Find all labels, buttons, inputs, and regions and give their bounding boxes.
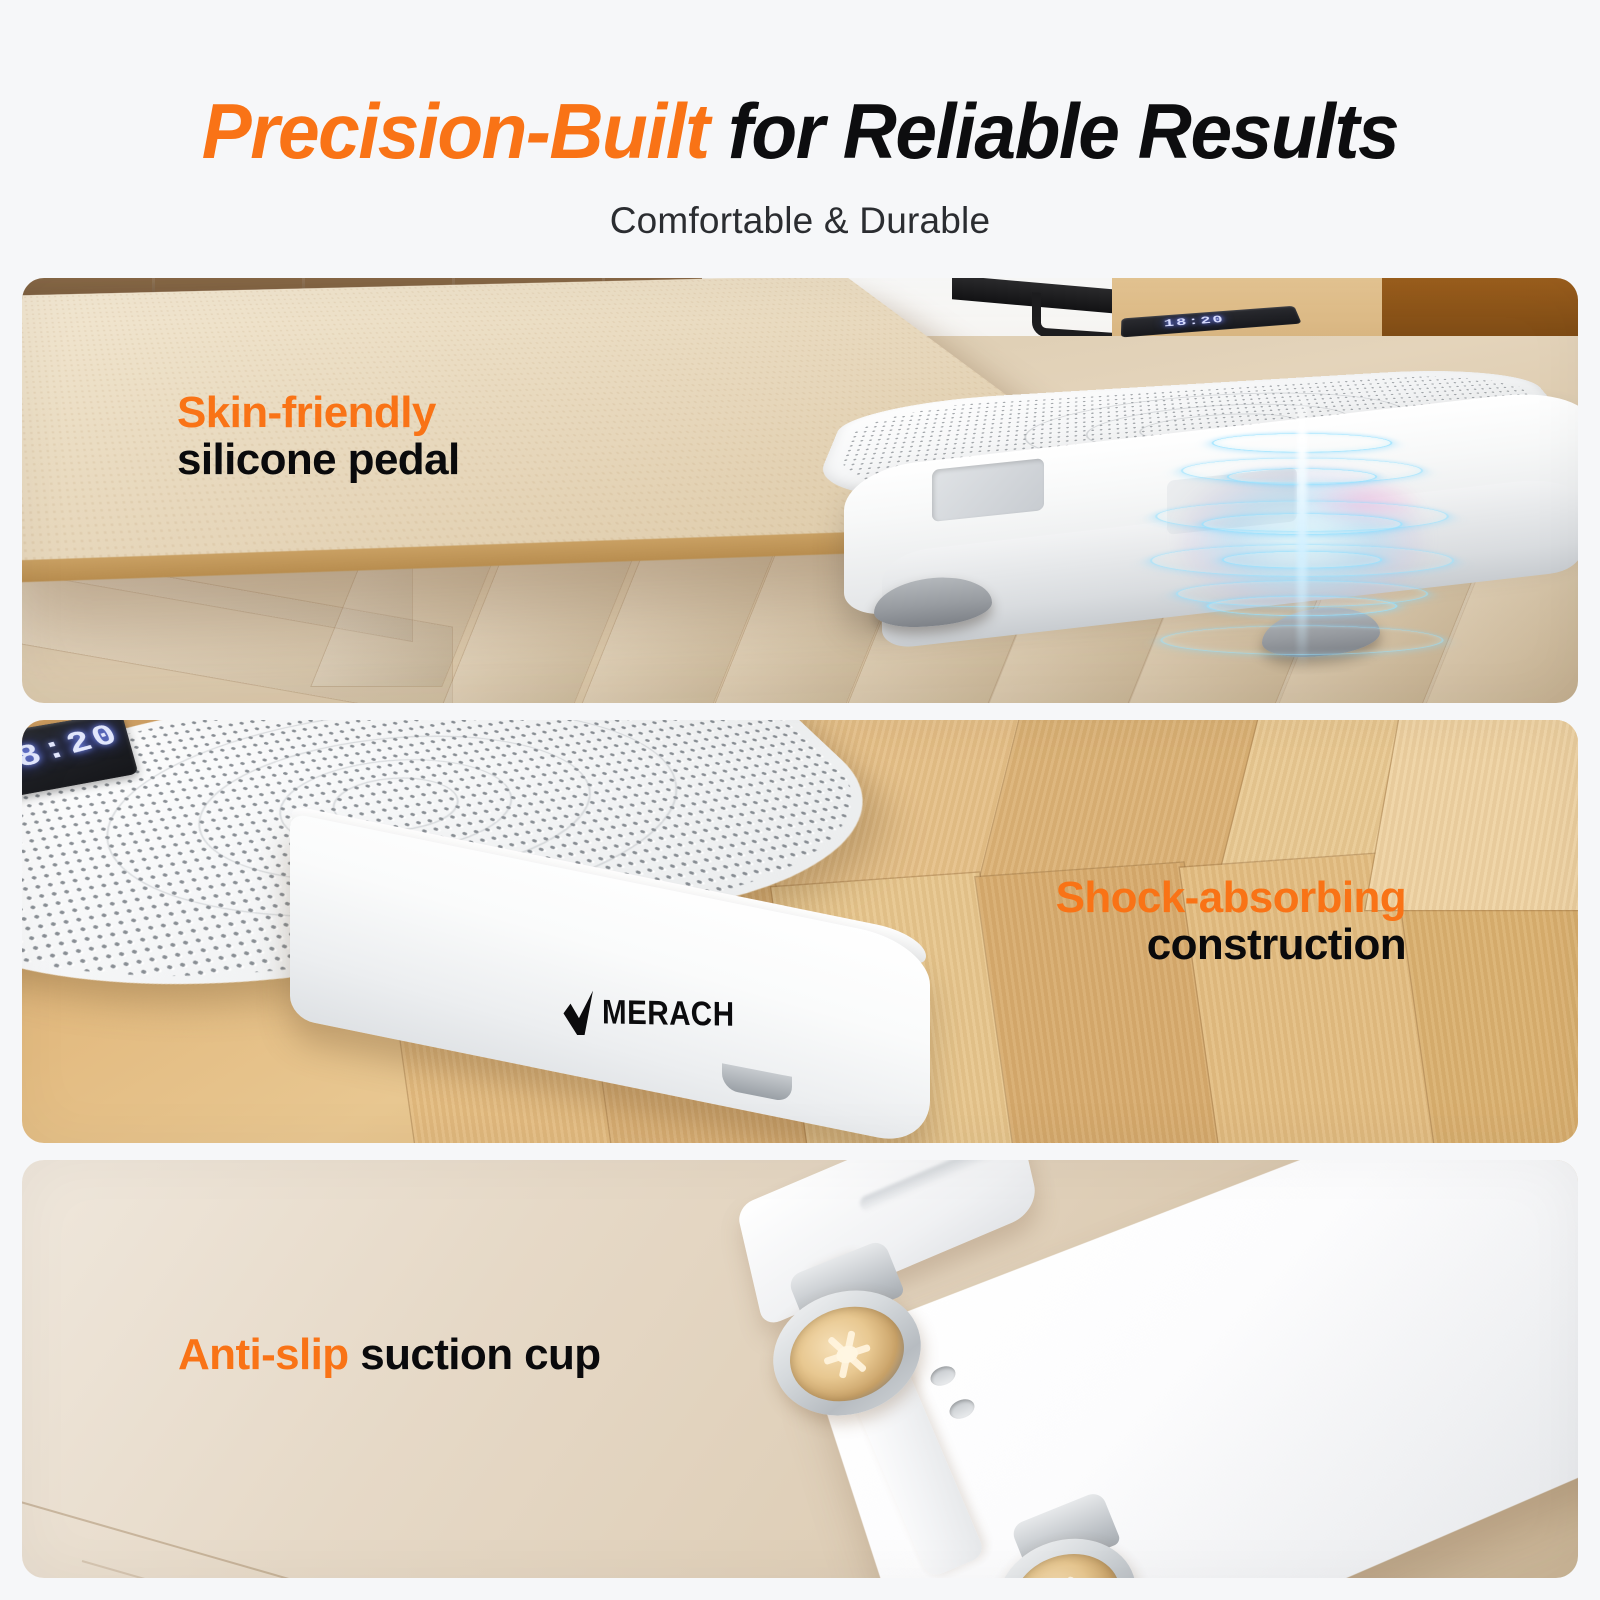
scene-skin-friendly-pedal: 18:20 — [22, 278, 1578, 703]
page-subtitle: Comfortable & Durable — [0, 200, 1600, 242]
suction-cup-foot — [996, 1506, 1123, 1578]
merach-check-icon — [559, 990, 600, 1035]
page-title: Precision-Built for Reliable Results — [32, 92, 1568, 170]
caption-anti-slip: Anti-slip suction cup — [178, 1332, 601, 1379]
headline-rest: for Reliable Results — [709, 87, 1399, 175]
caption-accent-text: Skin-friendly — [177, 390, 460, 437]
caption-rest-text: suction cup — [349, 1330, 601, 1379]
feature-panel-list: 18:20 — [22, 278, 1578, 1595]
lcd-digits: 18:20 — [22, 720, 127, 784]
lcd-display: 18:20 — [1121, 306, 1302, 338]
headline-accent: Precision-Built — [202, 87, 709, 175]
lcd-digits: 18:20 — [1163, 314, 1226, 330]
caption-skin-friendly: Skin-friendly silicone pedal — [177, 390, 460, 483]
feature-panel-anti-slip[interactable]: Anti-slip suction cup — [22, 1160, 1578, 1578]
vibration-plate-underside — [662, 1160, 1578, 1578]
caption-accent-text: Shock-absorbing — [1056, 875, 1406, 922]
caption-rest-text: construction — [1056, 922, 1406, 969]
caption-shock-absorbing: Shock-absorbing construction — [1056, 875, 1406, 968]
merach-wordmark: MERACH — [598, 994, 737, 1035]
vibration-plate-device: 18:20 — [822, 278, 1578, 688]
feature-panel-skin-friendly[interactable]: 18:20 — [22, 278, 1578, 703]
suction-cup-foot — [772, 1256, 922, 1416]
vibration-wave-graphic — [1137, 408, 1467, 648]
header: Precision-Built for Reliable Results Com… — [0, 0, 1600, 242]
feature-panel-shock-absorbing[interactable]: TIME AUTO 18:20 MERACH Shock-absorbing c… — [22, 720, 1578, 1143]
merach-logo: MERACH — [559, 990, 738, 1038]
caption-accent-text: Anti-slip — [178, 1330, 349, 1379]
caption-rest-text: silicone pedal — [177, 437, 460, 484]
vibration-plate-device: TIME AUTO 18:20 MERACH — [22, 720, 1032, 1143]
